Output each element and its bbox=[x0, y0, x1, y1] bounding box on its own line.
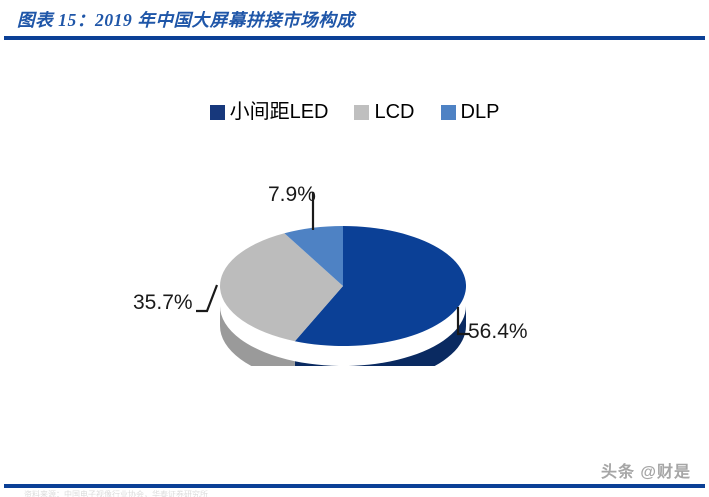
legend-swatch-led-icon bbox=[210, 105, 225, 120]
legend-swatch-dlp-icon bbox=[441, 105, 456, 120]
pie-chart-area: 小间距LED LCD DLP bbox=[0, 44, 709, 449]
footer-source-text: 资料来源：中国电子视像行业协会，华泰证券研究所 bbox=[24, 489, 684, 497]
title-divider-rule bbox=[4, 36, 705, 40]
footer-divider-rule bbox=[4, 484, 705, 488]
legend-item-led[interactable]: 小间距LED bbox=[210, 102, 329, 122]
legend-label-led: 小间距LED bbox=[230, 102, 329, 122]
legend-swatch-lcd-icon bbox=[354, 105, 369, 120]
legend-label-dlp: DLP bbox=[461, 102, 500, 122]
watermark: 头条 @财是 bbox=[601, 458, 691, 482]
figure-title: 图表 15：2019 年中国大屏幕拼接市场构成 bbox=[17, 7, 355, 32]
data-label-lcd: 35.7% bbox=[133, 292, 193, 313]
chart-legend: 小间距LED LCD DLP bbox=[0, 102, 709, 122]
legend-item-dlp[interactable]: DLP bbox=[441, 102, 500, 122]
data-label-dlp: 7.9% bbox=[268, 184, 316, 205]
data-label-led: 56.4% bbox=[468, 321, 528, 342]
pie-top-face bbox=[220, 226, 466, 346]
legend-item-lcd[interactable]: LCD bbox=[354, 102, 414, 122]
legend-label-lcd: LCD bbox=[374, 102, 414, 122]
pie-graphic bbox=[220, 226, 466, 366]
